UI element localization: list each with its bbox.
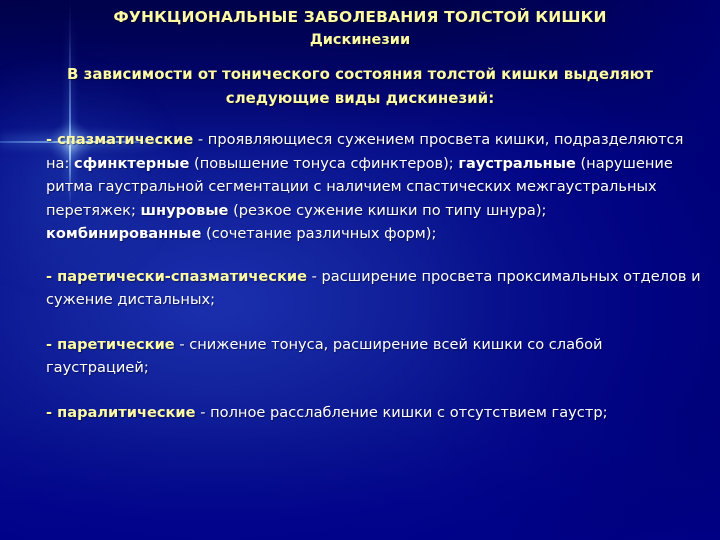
slide-body: - спазматические - проявляющиеся сужение… — [46, 128, 702, 424]
term-haustral: гаустральные — [458, 155, 575, 172]
term-cordlike: шнуровые — [141, 202, 229, 219]
paragraph-paretic: - паретические - снижение тонуса, расшир… — [46, 333, 702, 380]
paragraph-spastic: - спазматические - проявляющиеся сужение… — [46, 128, 702, 246]
paragraph-paralytic: - паралитические - полное расслабление к… — [46, 401, 702, 425]
slide-content: ФУНКЦИОНАЛЬНЫЕ ЗАБОЛЕВАНИЯ ТОЛСТОЙ КИШКИ… — [0, 0, 720, 540]
term-sphincteric: сфинктерные — [74, 155, 189, 172]
term-combined: комбинированные — [46, 225, 201, 242]
text-spastic-5: (сочетание различных форм); — [201, 225, 436, 242]
text-spastic-2: (повышение тонуса сфинктеров); — [189, 155, 458, 172]
presentation-slide: ФУНКЦИОНАЛЬНЫЕ ЗАБОЛЕВАНИЯ ТОЛСТОЙ КИШКИ… — [0, 0, 720, 540]
paragraph-paretic-spastic: - паретически-спазматические - расширени… — [46, 265, 702, 312]
term-paretic-spastic: - паретически-спазматические — [46, 268, 307, 285]
text-spastic-4: (резкое сужение кишки по типу шнура); — [228, 202, 546, 219]
text-paralytic: - полное расслабление кишки с отсутствие… — [196, 404, 608, 421]
term-spastic: - спазматические — [46, 131, 193, 148]
slide-title: ФУНКЦИОНАЛЬНЫЕ ЗАБОЛЕВАНИЯ ТОЛСТОЙ КИШКИ — [0, 7, 720, 27]
intro-statement: В зависимости от тонического состояния т… — [34, 62, 686, 110]
slide-subtitle: Дискинезии — [0, 30, 720, 51]
term-paralytic: - паралитические — [46, 404, 196, 421]
term-paretic: - паретические — [46, 336, 175, 353]
slide-title-block: ФУНКЦИОНАЛЬНЫЕ ЗАБОЛЕВАНИЯ ТОЛСТОЙ КИШКИ… — [0, 7, 720, 51]
